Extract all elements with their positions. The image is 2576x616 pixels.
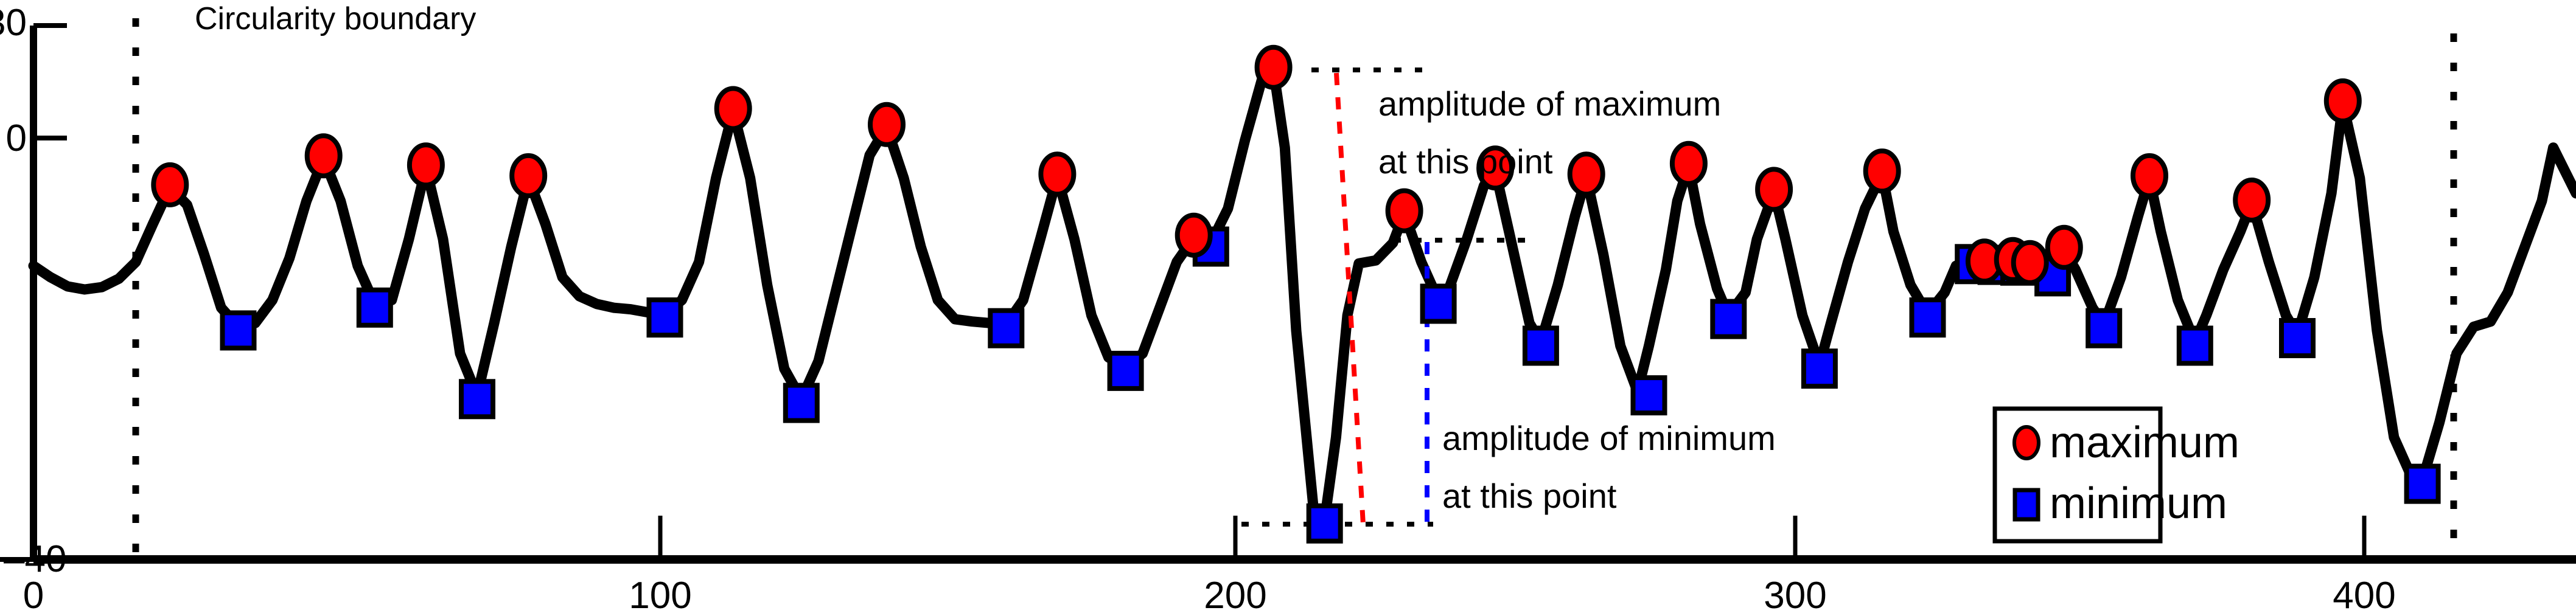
minimum-marker — [1525, 328, 1557, 364]
maximum-marker — [1757, 169, 1790, 209]
maximum-marker — [1041, 154, 1073, 194]
legend-maximum-marker-icon — [2014, 427, 2039, 459]
maximum-marker — [1672, 144, 1705, 184]
minimum-marker — [461, 381, 493, 417]
x-tick-label-300: 300 — [1764, 575, 1826, 616]
minimum-marker — [1633, 378, 1665, 413]
legend-maximum-label: maximum — [2050, 418, 2239, 467]
x-tick-label-400: 400 — [2333, 575, 2395, 616]
amplitude-max-vertical-guide — [1336, 73, 1363, 524]
minimum-marker — [1804, 351, 1835, 386]
circularity-boundary-label: Circularity boundary — [195, 1, 476, 36]
minimum-marker — [786, 386, 817, 421]
amplitude-max-label-line1: amplitude of maximum — [1378, 85, 1721, 123]
y-tick-label-minus40: –40 — [4, 538, 66, 580]
maximum-marker — [1178, 215, 1210, 255]
y-tick-label-30: 30 — [0, 2, 27, 44]
maximum-marker — [307, 136, 340, 176]
minimum-marker — [1712, 302, 1744, 337]
maximum-marker — [512, 156, 545, 196]
maximum-marker — [717, 89, 750, 129]
maximum-marker — [1570, 154, 1603, 194]
minimum-marker — [1110, 353, 1142, 389]
legend: maximum minimum — [1995, 409, 2239, 541]
amplitude-min-label-line2: at this point — [1442, 477, 1617, 515]
maximum-marker — [153, 165, 186, 205]
chart-root: 30 0 –40 0 100 200 300 400 Circularity b… — [0, 0, 2576, 616]
minimum-marker — [2179, 328, 2211, 364]
minimum-marker — [1423, 286, 1454, 322]
minimum-marker — [649, 300, 681, 335]
minimum-marker — [223, 313, 254, 348]
minimum-marker — [359, 290, 391, 325]
minimum-marker — [2407, 466, 2438, 502]
maximum-marker — [2014, 243, 2047, 283]
legend-minimum-label: minimum — [2050, 479, 2227, 528]
minimum-marker — [2281, 320, 2313, 356]
minimum-marker — [1309, 506, 1341, 541]
maximum-marker — [870, 105, 903, 145]
maximum-marker — [2133, 156, 2166, 196]
maximum-marker — [1866, 151, 1899, 191]
maximum-marker — [1257, 47, 1290, 88]
amplitude-max-label-line2: at this point — [1378, 142, 1553, 181]
x-tick-label-100: 100 — [629, 575, 691, 616]
waveform-chart: 30 0 –40 0 100 200 300 400 Circularity b… — [0, 0, 2576, 616]
minimum-marker — [1912, 300, 1944, 335]
legend-minimum-marker-icon — [2015, 490, 2038, 519]
minimum-marker — [990, 311, 1022, 346]
x-tick-label-200: 200 — [1204, 575, 1266, 616]
maximum-marker — [410, 145, 442, 185]
maximum-marker — [1388, 191, 1421, 231]
maximum-marker — [2326, 81, 2359, 121]
y-tick-label-0: 0 — [6, 117, 27, 159]
x-tick-label-0: 0 — [23, 575, 44, 616]
minimum-marker — [2088, 311, 2120, 346]
maximum-marker — [2048, 227, 2081, 268]
amplitude-min-label-line1: amplitude of minimum — [1442, 419, 1776, 457]
maximum-marker — [2235, 180, 2268, 220]
